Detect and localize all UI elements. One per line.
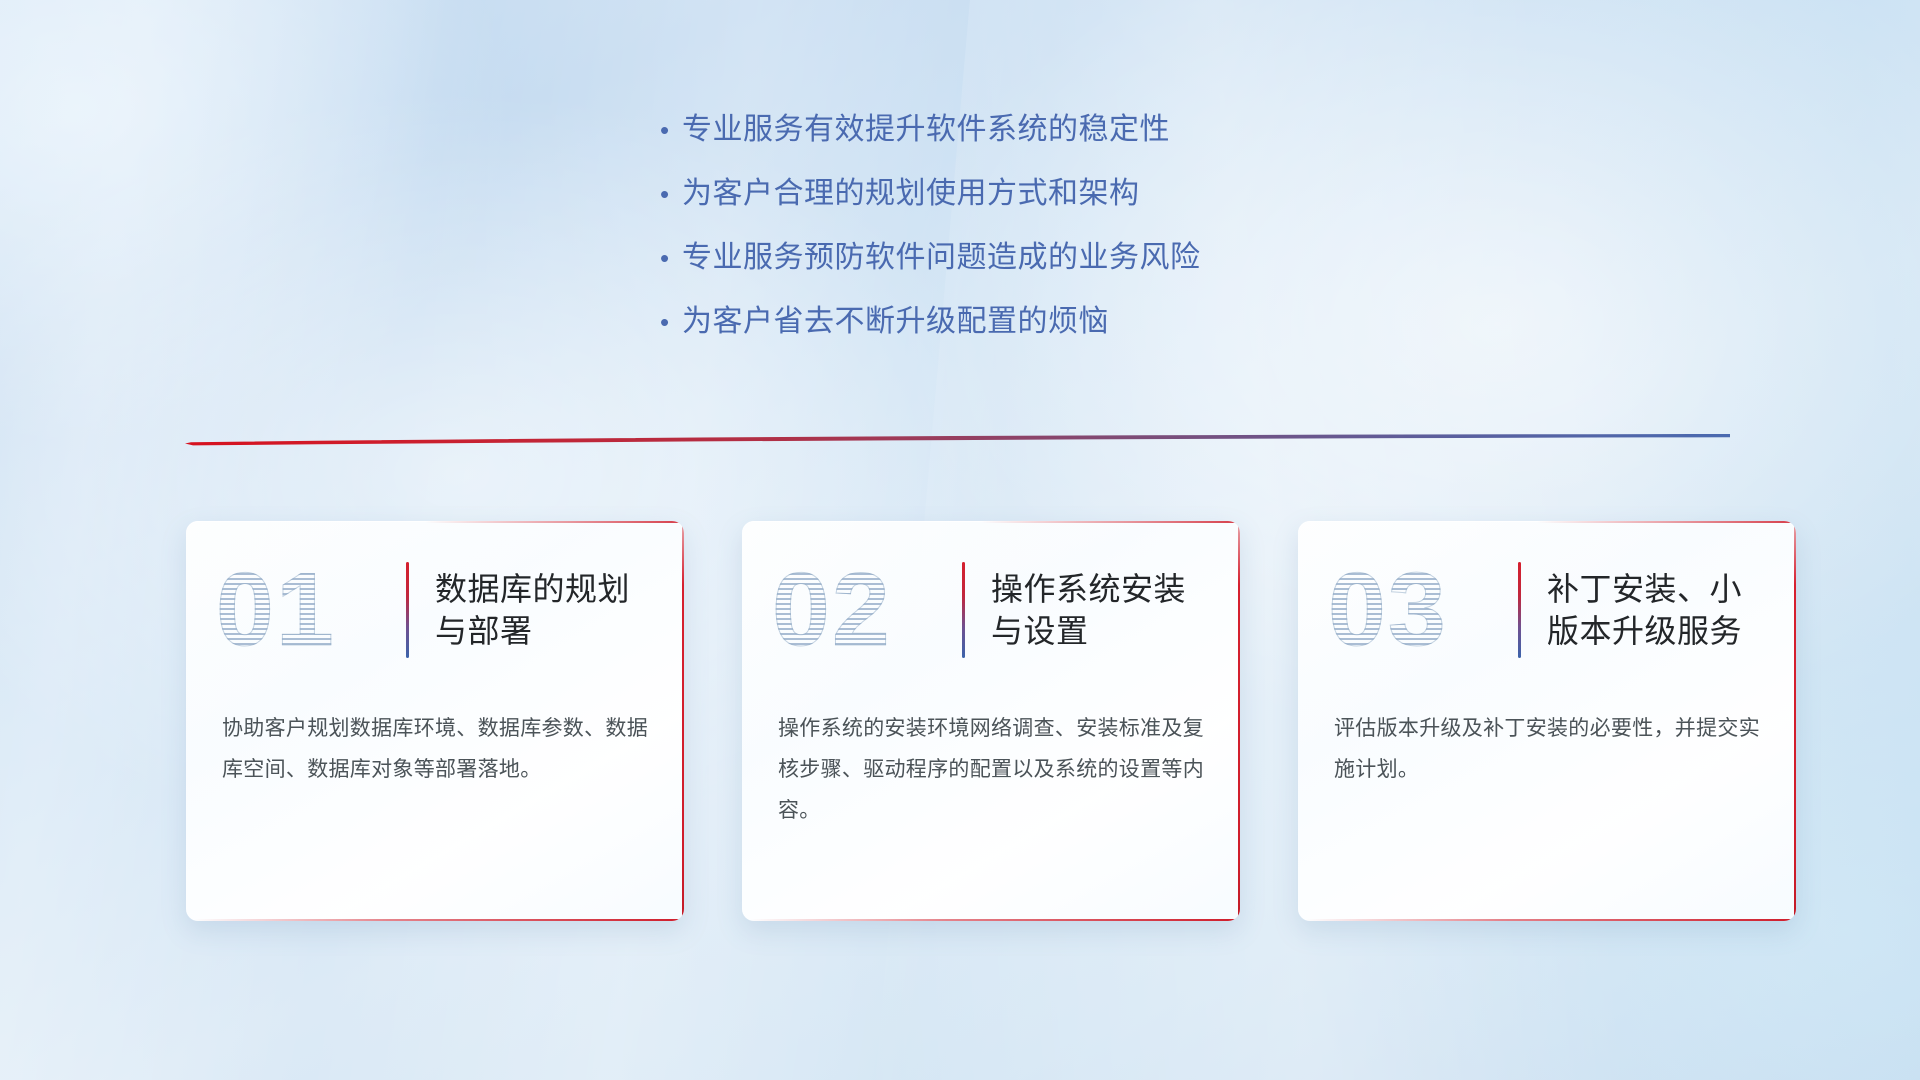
card-accent-right <box>682 521 684 921</box>
bullet-marker-icon: • <box>660 117 682 143</box>
bullet-marker-icon: • <box>660 309 682 335</box>
section-divider <box>185 433 1730 445</box>
service-card-03[interactable]: 03 补丁安装、小版本升级服务 评估版本升级及补丁安装的必要性，并提交实施计划。 <box>1298 521 1796 921</box>
card-title-divider <box>406 562 409 658</box>
list-item: • 为客户省去不断升级配置的烦恼 <box>660 304 1201 340</box>
card-description: 评估版本升级及补丁安装的必要性，并提交实施计划。 <box>1298 673 1796 791</box>
service-card-list: 01 数据库的规划与部署 协助客户规划数据库环境、数据库参数、数据库空间、数据库… <box>186 521 1796 921</box>
card-description: 协助客户规划数据库环境、数据库参数、数据库空间、数据库对象等部署落地。 <box>186 673 684 791</box>
divider-shape-icon <box>185 434 1730 446</box>
list-item: • 专业服务有效提升软件系统的稳定性 <box>660 112 1201 148</box>
card-accent-bottom <box>750 919 1240 921</box>
card-number-watermark: 01 <box>216 558 404 662</box>
bullet-text: 专业服务有效提升软件系统的稳定性 <box>682 112 1170 148</box>
card-title-divider <box>962 562 965 658</box>
bullet-marker-icon: • <box>660 181 682 207</box>
card-accent-top <box>1537 521 1796 523</box>
card-accent-top <box>981 521 1240 523</box>
service-card-01[interactable]: 01 数据库的规划与部署 协助客户规划数据库环境、数据库参数、数据库空间、数据库… <box>186 521 684 921</box>
card-accent-top <box>425 521 684 523</box>
bullet-text: 专业服务预防软件问题造成的业务风险 <box>682 240 1201 276</box>
card-header: 03 补丁安装、小版本升级服务 <box>1298 521 1796 673</box>
benefits-bullet-list: • 专业服务有效提升软件系统的稳定性 • 为客户合理的规划使用方式和架构 • 专… <box>660 112 1201 368</box>
card-title: 数据库的规划与部署 <box>435 568 654 652</box>
card-header: 01 数据库的规划与部署 <box>186 521 684 673</box>
card-header: 02 操作系统安装与设置 <box>742 521 1240 673</box>
list-item: • 专业服务预防软件问题造成的业务风险 <box>660 240 1201 276</box>
bullet-marker-icon: • <box>660 245 682 271</box>
card-title: 操作系统安装与设置 <box>991 568 1210 652</box>
card-accent-bottom <box>194 919 684 921</box>
card-number-watermark: 02 <box>772 558 960 662</box>
card-title-divider <box>1518 562 1521 658</box>
card-number-watermark: 03 <box>1328 558 1516 662</box>
service-card-02[interactable]: 02 操作系统安装与设置 操作系统的安装环境网络调查、安装标准及复核步骤、驱动程… <box>742 521 1240 921</box>
list-item: • 为客户合理的规划使用方式和架构 <box>660 176 1201 212</box>
bullet-text: 为客户省去不断升级配置的烦恼 <box>682 304 1109 340</box>
card-description: 操作系统的安装环境网络调查、安装标准及复核步骤、驱动程序的配置以及系统的设置等内… <box>742 673 1240 832</box>
card-accent-right <box>1238 521 1240 921</box>
card-accent-bottom <box>1306 919 1796 921</box>
slide-canvas: • 专业服务有效提升软件系统的稳定性 • 为客户合理的规划使用方式和架构 • 专… <box>0 0 1920 1080</box>
card-accent-right <box>1794 521 1796 921</box>
bullet-text: 为客户合理的规划使用方式和架构 <box>682 176 1140 212</box>
card-title: 补丁安装、小版本升级服务 <box>1547 568 1766 652</box>
